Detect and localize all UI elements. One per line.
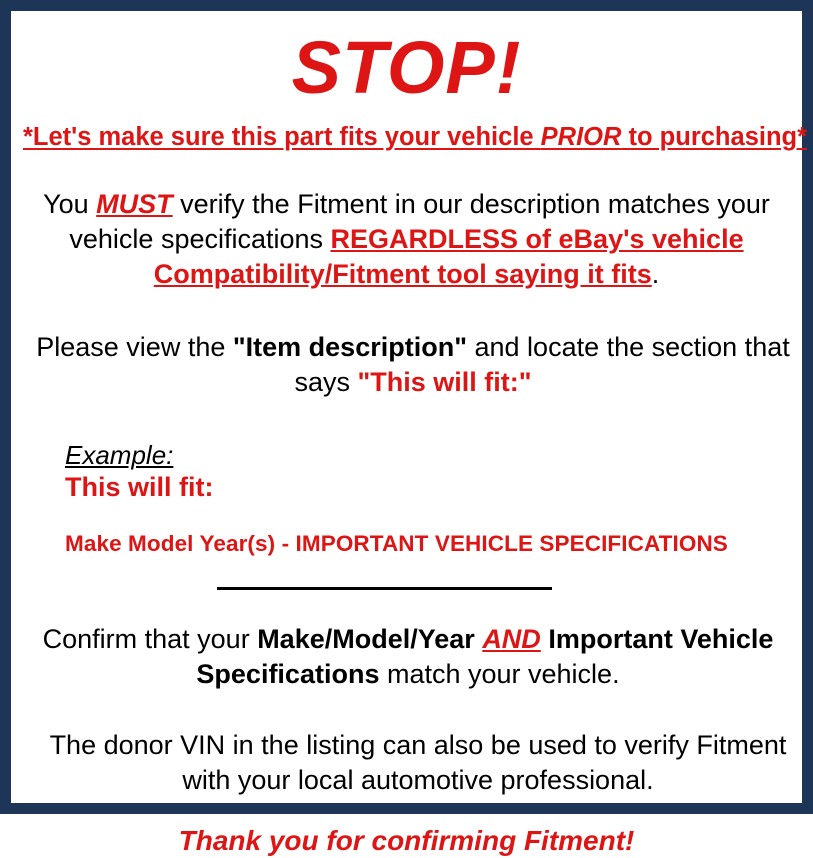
horizontal-divider xyxy=(217,587,552,590)
example-label: Example: xyxy=(65,440,173,470)
confirm-paragraph: Confirm that your Make/Model/Year AND Im… xyxy=(23,598,793,692)
confirm-seg7: match your vehicle. xyxy=(379,659,619,689)
must-para-period: . xyxy=(652,259,660,289)
confirm-seg1: Confirm that your xyxy=(43,624,258,654)
divider-wrap xyxy=(23,580,790,598)
tagline-text-after: to purchasing* xyxy=(621,123,807,151)
notice-content: STOP! *Let's make sure this part fits yo… xyxy=(11,11,802,803)
item-description-paragraph: Please view the "Item description" and l… xyxy=(23,292,803,400)
thanks-line: Thank you for confirming Fitment! xyxy=(23,798,790,858)
must-para-seg1: You xyxy=(43,189,96,219)
tagline: *Let's make sure this part fits your veh… xyxy=(23,111,790,153)
vin-paragraph: The donor VIN in the listing can also be… xyxy=(23,692,813,798)
must-emphasis: MUST xyxy=(96,189,173,219)
tagline-emphasis-prior: PRIOR xyxy=(541,123,622,151)
fitment-notice-card: STOP! *Let's make sure this part fits yo… xyxy=(0,0,813,814)
example-label-row: Example: xyxy=(65,440,790,470)
example-spec-line: Make Model Year(s) - IMPORTANT VEHICLE S… xyxy=(65,530,790,558)
tagline-text-before: *Let's make sure this part fits your veh… xyxy=(23,123,541,151)
and-emphasis: AND xyxy=(482,624,541,654)
item-description-emphasis: "Item description" xyxy=(233,332,467,362)
make-model-year-emphasis: Make/Model/Year xyxy=(257,624,475,654)
this-will-fit-emphasis: "This will fit:" xyxy=(357,367,531,397)
must-verify-paragraph: You MUST verify the Fitment in our descr… xyxy=(27,153,787,292)
stop-heading: STOP! xyxy=(23,11,790,111)
example-block: Example: This will fit: Make Model Year(… xyxy=(23,400,790,558)
example-fit-line: This will fit: xyxy=(65,471,790,504)
desc-para-seg1: Please view the xyxy=(36,332,233,362)
